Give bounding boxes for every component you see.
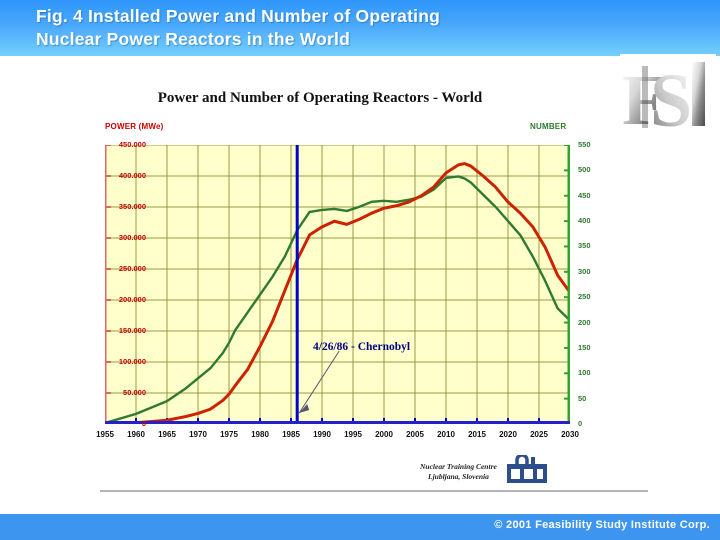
plot-background [105, 145, 570, 424]
chernobyl-annotation-label: 4/26/86 - Chernobyl [313, 341, 410, 353]
left-axis-tick: 450.000 [119, 140, 146, 149]
right-axis-tick: 0 [578, 419, 582, 428]
divider-rule [100, 490, 648, 492]
left-axis-tick: 150.000 [119, 326, 146, 335]
page-title: Fig. 4 Installed Power and Number of Ope… [36, 5, 636, 51]
left-axis-tick: 0 [142, 419, 146, 428]
title-band: Fig. 4 Installed Power and Number of Ope… [0, 0, 720, 56]
right-axis-tick: 350 [578, 241, 591, 250]
chart-title: Power and Number of Operating Reactors -… [0, 90, 640, 107]
right-axis-tick: 200 [578, 318, 591, 327]
right-axis-tick: 50 [578, 394, 586, 403]
reactor-building-icon [507, 455, 547, 488]
left-axis-tick: 300.000 [119, 233, 146, 242]
training-centre-credit: Nuclear Training Centre Ljubljana, Slove… [420, 455, 547, 488]
right-axis-tick: 250 [578, 292, 591, 301]
right-axis-tick: 150 [578, 343, 591, 352]
left-axis-tick: 50.000 [123, 388, 146, 397]
right-axis-tick: 100 [578, 368, 591, 377]
x-axis-tick: 2030 [550, 430, 590, 439]
plot-canvas [105, 145, 570, 424]
plot-area [105, 145, 570, 424]
left-axis-tick: 100.000 [119, 357, 146, 366]
right-axis-tick: 400 [578, 216, 591, 225]
footer-bar: © 2001 Feasibility Study Institute Corp. [0, 514, 720, 540]
left-axis-tick: 350.000 [119, 202, 146, 211]
right-axis-tick: 500 [578, 165, 591, 174]
copyright-text: © 2001 Feasibility Study Institute Corp. [494, 519, 710, 531]
left-axis-tick: 200.000 [119, 295, 146, 304]
left-axis-tick: 400.000 [119, 171, 146, 180]
slide: Fig. 4 Installed Power and Number of Ope… [0, 0, 720, 540]
right-axis-tick: 550 [578, 140, 591, 149]
right-axis-title: NUMBER [530, 122, 566, 131]
right-axis-tick: 300 [578, 267, 591, 276]
right-axis-tick: 450 [578, 191, 591, 200]
left-axis-tick: 250.000 [119, 264, 146, 273]
left-axis-title: POWER (MWe) [105, 122, 164, 131]
training-centre-name: Nuclear Training Centre Ljubljana, Slove… [420, 462, 497, 482]
chart-figure: Power and Number of Operating Reactors -… [0, 60, 720, 480]
